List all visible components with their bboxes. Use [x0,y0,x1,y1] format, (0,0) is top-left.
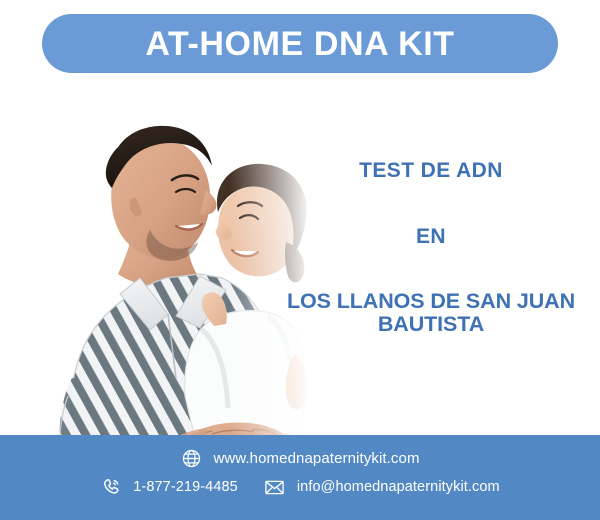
headline-location: LOS LLANOS DE SAN JUAN BAUTISTA [262,290,600,336]
dna-kit-promo-card: AT-HOME DNA KIT [0,0,600,520]
footer-website-row: www.homednapaternitykit.com [0,447,600,469]
headline-service: TEST DE ADN [262,160,600,181]
page-title: AT-HOME DNA KIT [145,27,454,61]
phone-label: 1-877-219-4485 [133,479,238,495]
footer-phone-email-row: 1-877-219-4485 info@homednapaternitykit.… [0,476,600,498]
email-label: info@homednapaternitykit.com [297,479,500,495]
footer-contact-bar: www.homednapaternitykit.com 1-877-219-44… [0,435,600,520]
headline-block: TEST DE ADN EN LOS LLANOS DE SAN JUAN BA… [262,160,600,336]
phone-icon [100,476,122,498]
email-contact[interactable]: info@homednapaternitykit.com [264,476,500,498]
headline-preposition: EN [262,226,600,247]
globe-icon [180,447,202,469]
header-banner: AT-HOME DNA KIT [42,14,558,73]
headline-location-line1: LOS LLANOS DE SAN JUAN [262,290,600,313]
headline-location-line2: BAUTISTA [262,313,600,336]
website-label: www.homednapaternitykit.com [213,450,419,467]
phone-contact[interactable]: 1-877-219-4485 [100,476,238,498]
envelope-icon [264,476,286,498]
website-contact[interactable]: www.homednapaternitykit.com [180,447,419,469]
